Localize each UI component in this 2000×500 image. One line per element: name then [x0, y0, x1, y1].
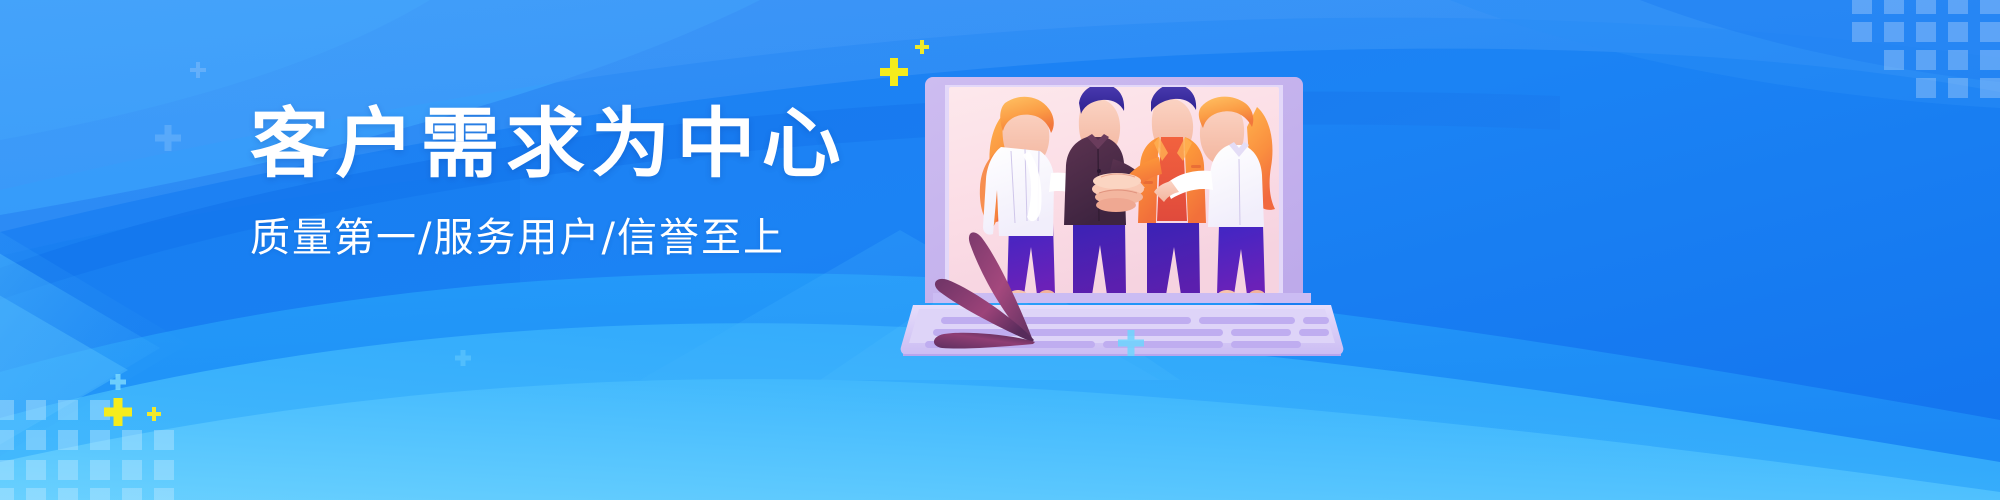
leaf-svg: [896, 218, 1066, 358]
yellow-cross-small-icon: [915, 40, 929, 54]
yellow-cross-bottom-icon: [104, 398, 132, 426]
pale-cross-mid-icon: [155, 125, 181, 151]
yellow-cross-bottom-small-icon: [147, 407, 161, 421]
purple-leaf-fronds: [896, 218, 1066, 358]
promo-banner: 客户需求为中心 质量第一/服务用户/信誉至上: [0, 0, 2000, 500]
page-title: 客户需求为中心: [250, 105, 895, 183]
pale-cross-upper-icon: [190, 62, 206, 78]
headline-block: 客户需求为中心 质量第一/服务用户/信誉至上: [250, 105, 870, 263]
cyan-cross-bottom-icon: [110, 374, 126, 390]
dot-grid-top-right: [1852, 0, 2000, 98]
yellow-cross-large-icon: [880, 58, 908, 86]
cyan-cross-mid-icon: [1118, 330, 1144, 356]
cyan-cross-right-icon: [455, 350, 471, 366]
page-subtitle: 质量第一/服务用户/信誉至上: [250, 205, 870, 263]
